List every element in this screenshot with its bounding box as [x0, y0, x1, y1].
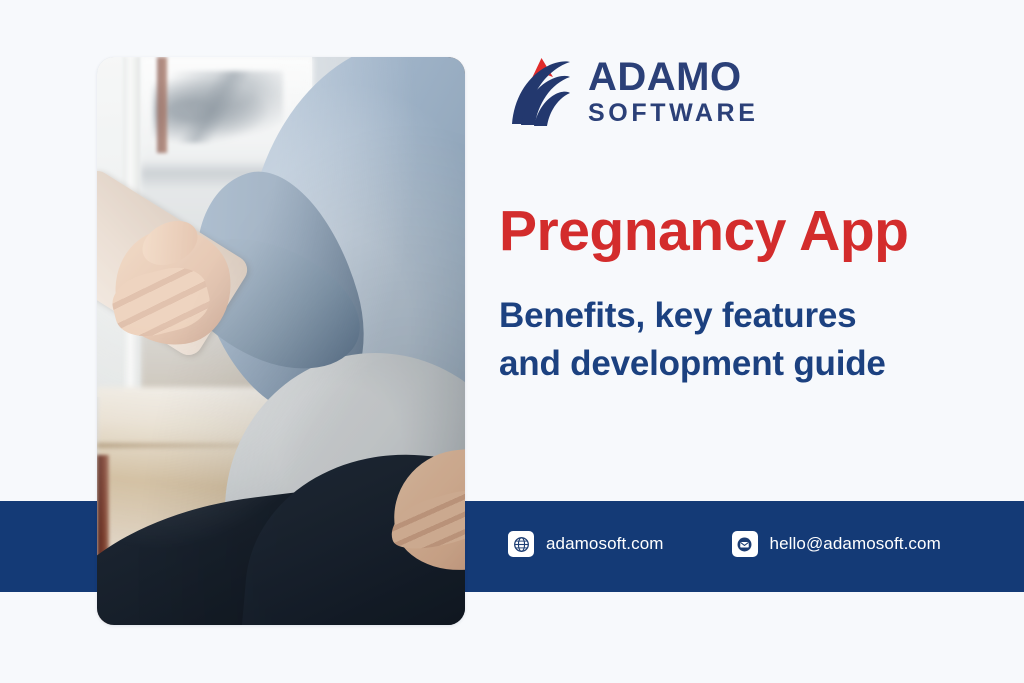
contact-website[interactable]: adamosoft.com [508, 531, 664, 557]
page-subtitle: Benefits, key features and development g… [499, 292, 886, 389]
hero-image-card [97, 57, 465, 625]
brand-wordmark: ADAMO SOFTWARE [588, 57, 758, 126]
brand-name-primary: ADAMO [588, 57, 758, 97]
contact-website-label: adamosoft.com [546, 534, 664, 554]
content-column: ADAMO SOFTWARE Pregnancy App Benefits, k… [499, 0, 979, 683]
photo-window-fixture [153, 71, 283, 143]
brand-logo[interactable]: ADAMO SOFTWARE [508, 55, 758, 127]
adamo-logo-mark [508, 55, 574, 127]
envelope-icon [732, 531, 758, 557]
contact-row: adamosoft.com hello@adamosoft.com [508, 531, 941, 557]
photo-wall-edge [157, 57, 167, 153]
contact-email-label: hello@adamosoft.com [770, 534, 941, 554]
promo-banner: ADAMO SOFTWARE Pregnancy App Benefits, k… [0, 0, 1024, 683]
brand-name-secondary: SOFTWARE [588, 101, 758, 126]
page-title: Pregnancy App [499, 198, 908, 264]
globe-icon [508, 531, 534, 557]
hero-photo [97, 57, 465, 625]
page-subtitle-line-2: and development guide [499, 340, 886, 388]
page-subtitle-line-1: Benefits, key features [499, 292, 886, 340]
contact-email[interactable]: hello@adamosoft.com [732, 531, 941, 557]
